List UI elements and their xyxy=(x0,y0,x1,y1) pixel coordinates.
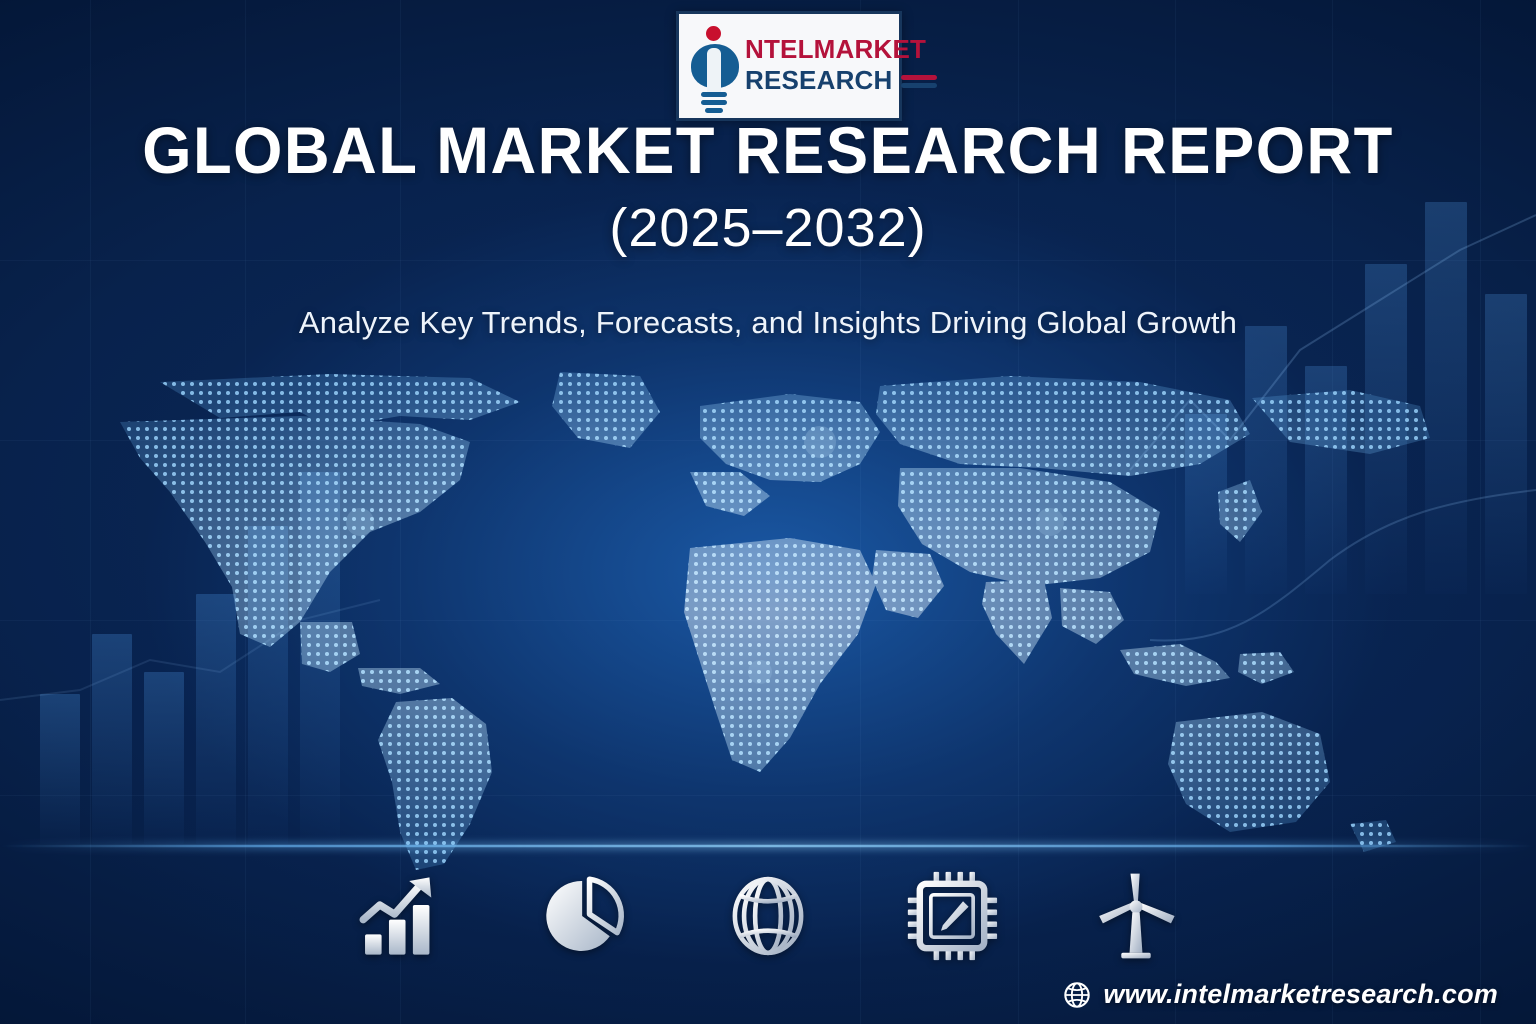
pie-chart-icon xyxy=(538,870,630,962)
lightbulb-icon xyxy=(689,22,741,110)
globe-icon xyxy=(1063,981,1091,1009)
logo-flag-bars xyxy=(901,75,937,88)
wind-turbine-icon xyxy=(1090,870,1182,962)
microchip-icon xyxy=(906,870,998,962)
logo-text-intelmarket: NTELMARKET xyxy=(745,36,937,63)
feature-icon-row xyxy=(0,866,1536,966)
logo-text-research: RESEARCH xyxy=(745,65,893,96)
footer-website[interactable]: www.intelmarketresearch.com xyxy=(1063,979,1498,1010)
headline-block: GLOBAL MARKET RESEARCH REPORT (2025–2032… xyxy=(0,116,1536,259)
report-cover: NTELMARKET RESEARCH GLOBAL MARKET RESEAR… xyxy=(0,0,1536,1024)
globe-wireframe-icon xyxy=(722,870,814,962)
growth-bar-chart-icon xyxy=(354,870,446,962)
dotted-world-map xyxy=(0,372,1536,872)
page-subtitle: Analyze Key Trends, Forecasts, and Insig… xyxy=(0,305,1536,341)
brand-logo[interactable]: NTELMARKET RESEARCH xyxy=(676,11,902,121)
website-url[interactable]: www.intelmarketresearch.com xyxy=(1103,979,1498,1010)
page-title: GLOBAL MARKET RESEARCH REPORT xyxy=(31,116,1506,185)
forecast-period: (2025–2032) xyxy=(0,197,1536,259)
